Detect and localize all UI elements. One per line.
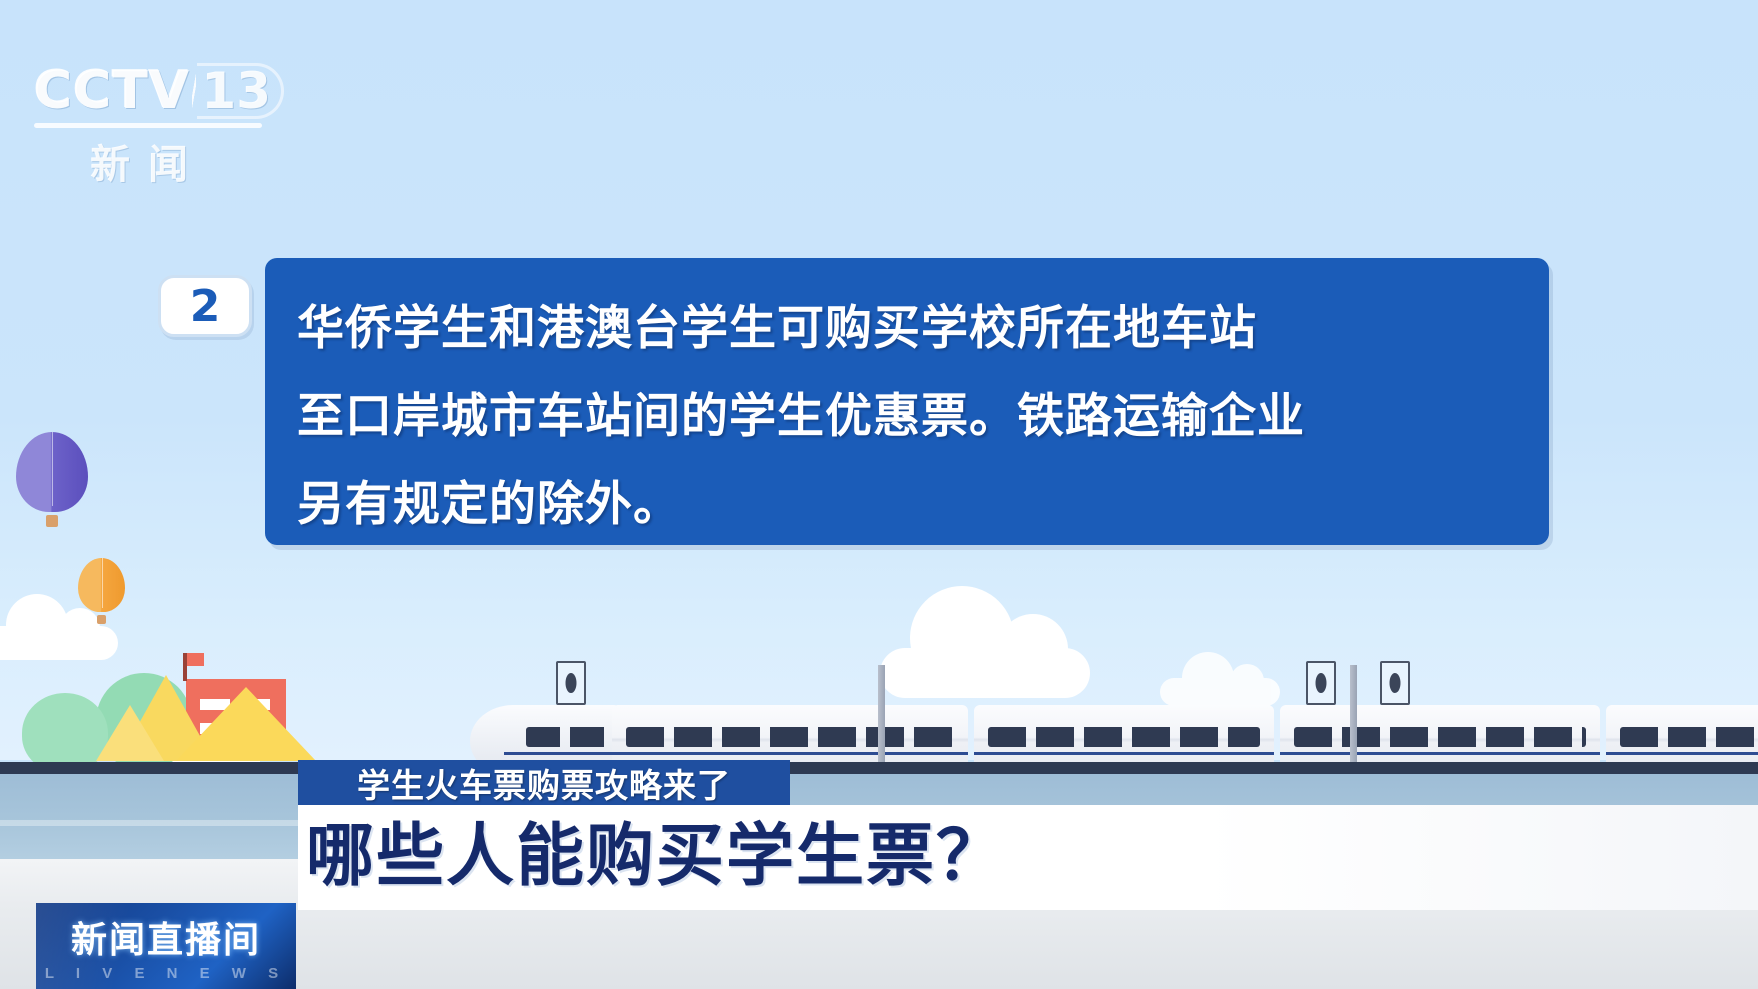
headline-text: 哪些人能购买学生票？: [306, 806, 1006, 906]
program-bug-name: 新闻直播间: [36, 911, 296, 963]
logo-cn-text: 新闻: [34, 132, 262, 190]
logo-channel-number: 13: [197, 63, 284, 119]
channel-logo: CCTV 13 新闻: [34, 62, 284, 177]
catenary-pole: [878, 665, 885, 777]
logo-cctv-text: CCTV: [34, 65, 190, 117]
kicker-text: 学生火车票购票攻略来了: [357, 759, 731, 807]
logo-slash-icon: [192, 67, 196, 115]
logo-underline: [34, 123, 262, 128]
callout-panel: 华侨学生和港澳台学生可购买学校所在地车站 至口岸城市车站间的学生优惠票。铁路运输…: [265, 258, 1549, 545]
catenary-pole: [1350, 665, 1357, 777]
callout-number-badge: 2: [158, 275, 252, 337]
train-pantograph: [1306, 661, 1336, 705]
train-pantograph: [556, 661, 586, 705]
program-bug-subtitle: L I V E N E W S: [36, 965, 296, 982]
callout-body-text: 华侨学生和港澳台学生可购买学校所在地车站 至口岸城市车站间的学生优惠票。铁路运输…: [265, 258, 1549, 548]
kicker-bar: 学生火车票购票攻略来了: [298, 760, 790, 805]
shoreline-edge: [0, 762, 1758, 774]
train-pantograph: [1380, 661, 1410, 705]
purple-balloon-icon: [16, 432, 88, 527]
program-bug: 新闻直播间 L I V E N E W S: [36, 903, 296, 989]
broadcast-screen: CCTV 13 新闻 华侨学生和港澳台学生可购买学校所在地车站 至口岸城市车站间…: [0, 0, 1758, 989]
callout-number-label: 2: [190, 281, 221, 332]
